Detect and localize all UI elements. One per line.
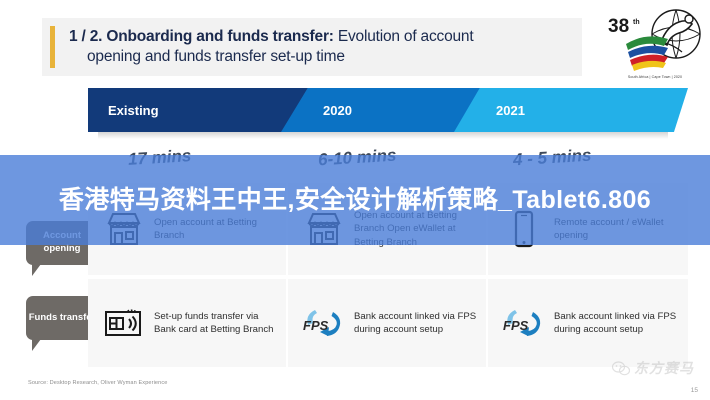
title-heading-number: 1 / 2. Onboarding and funds transfer: [69,28,334,45]
matrix-cell-r2c1-text: Set-up funds transfer via Bank card at B… [150,310,278,336]
horse-racing-emblem-icon: 38 th [606,8,704,74]
timeline-segment-2021-label: 2021 [496,103,525,118]
fps-logo-icon: FPS [498,306,550,340]
title-heading-line2: opening and funds transfer set-up time [69,47,473,67]
fps-logo-icon: FPS [298,306,350,340]
timeline-segment-existing: Existing [88,88,308,132]
timeline-segment-2020-label: 2020 [323,103,352,118]
svg-text:38: 38 [608,16,629,37]
title-accent-bar [50,26,55,68]
matrix-row-funds-transfer: Set-up funds transfer via Bank card at B… [88,279,688,367]
page-number: 15 [691,387,698,394]
matrix-cell-r2c2-text: Bank account linked via FPS during accou… [350,310,478,336]
wechat-icon [612,361,630,376]
page-title: 1 / 2. Onboarding and funds transfer: Ev… [69,27,473,67]
timeline-segment-2021: 2021 [454,88,688,132]
timeline-segment-existing-label: Existing [108,103,159,118]
svg-text:th: th [633,19,640,26]
side-label-funds-transfer-text: Funds transfer [29,312,96,325]
title-heading-rest: Evolution of account [334,28,474,45]
watermark-text: 东方赛马 [634,358,694,378]
matrix-cell-r2c3-text: Bank account linked via FPS during accou… [550,310,680,336]
slide-canvas: 1 / 2. Onboarding and funds transfer: Ev… [0,0,710,400]
banner-shadow [98,132,668,139]
timeline-banner: Existing 2020 2021 [88,88,688,132]
svg-text:FPS: FPS [303,318,329,333]
contactless-card-icon [98,306,150,340]
slide-title-band: 1 / 2. Onboarding and funds transfer: Ev… [42,18,582,76]
matrix-cell-r2c3: FPS Bank account linked via FPS during a… [488,279,688,367]
source-note: Source: Desktop Research, Oliver Wyman E… [28,380,167,386]
logo-caption: South Africa | Cape Town | 2020 [606,75,704,79]
watermark: 东方赛马 [612,358,694,378]
chinese-title-overlay: 香港特马资料王中王,安全设计解析策略_Tablet6.806 [0,155,710,245]
matrix-cell-r2c2: FPS Bank account linked via FPS during a… [288,279,488,367]
svg-text:FPS: FPS [503,318,529,333]
chinese-title-overlay-text: 香港特马资料王中王,安全设计解析策略_Tablet6.806 [59,184,651,217]
matrix-cell-r2c1: Set-up funds transfer via Bank card at B… [88,279,288,367]
conference-logo: 38 th South Africa | Cape Town | 2020 [606,8,704,80]
